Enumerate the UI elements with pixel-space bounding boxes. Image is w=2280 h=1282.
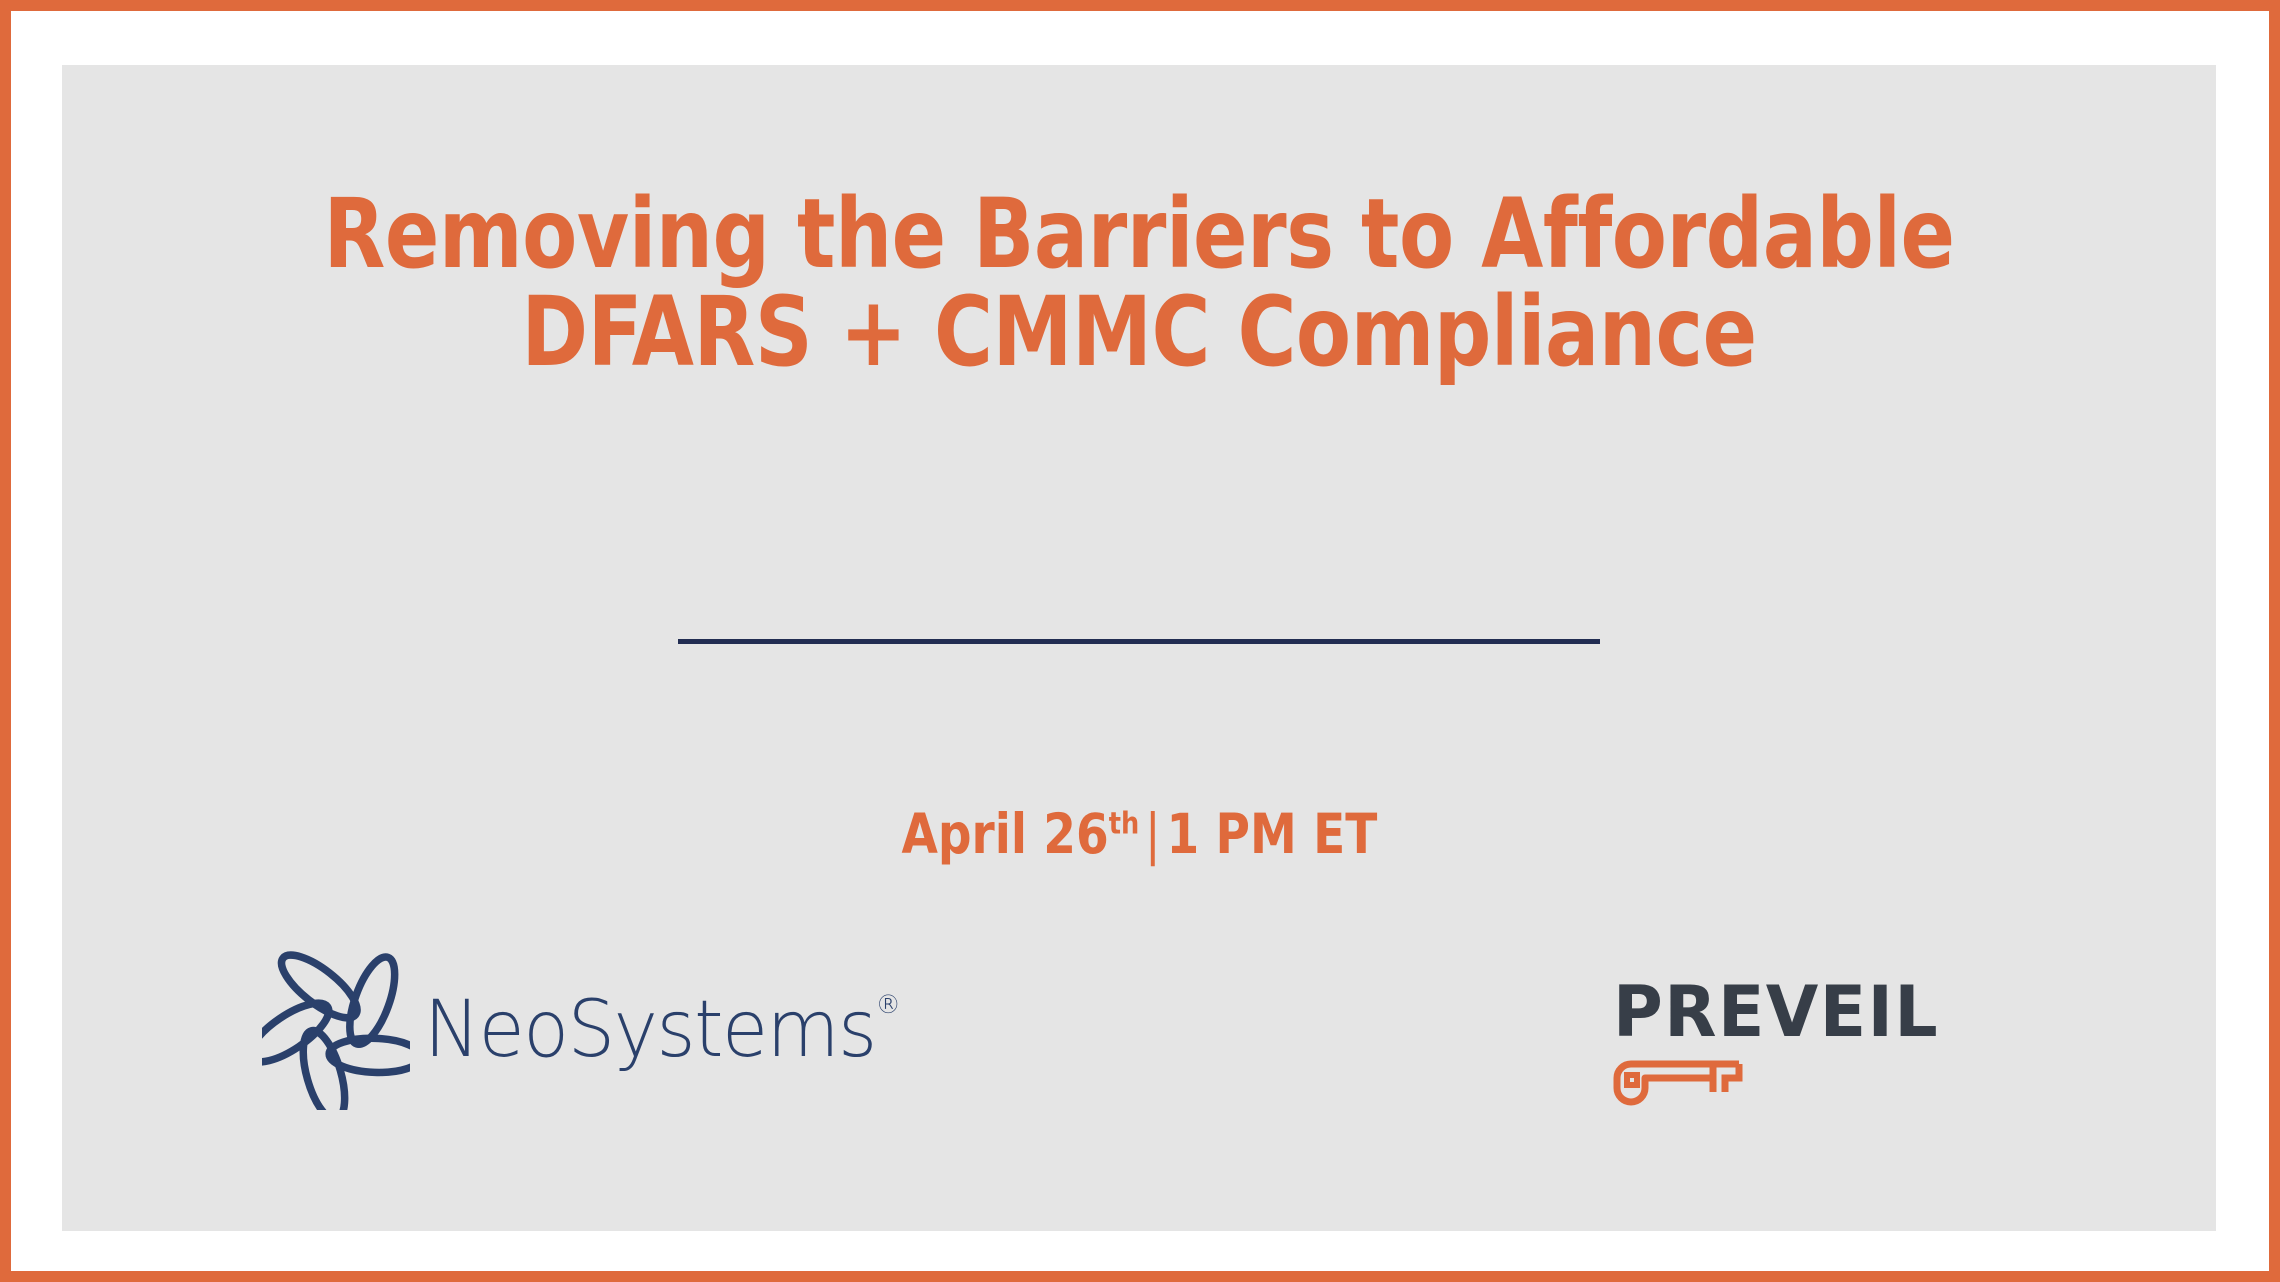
pinwheel-petals-icon [262,950,410,1110]
preveil-wordmark: PREVEIL [1613,976,1933,1048]
slide-frame: Removing the Barriers to Affordable DFAR… [0,0,2280,1282]
event-date-ordinal: th [1108,807,1139,842]
event-datetime: April 26th|1 PM ET [901,805,1377,863]
neosystems-logo: NeoSystems ® [262,950,895,1110]
event-date: April 26 [901,802,1108,866]
event-time: 1 PM ET [1166,802,1377,866]
event-separator: | [1139,802,1166,866]
title-line-1: Removing the Barriers to Affordable [137,185,2140,283]
neosystems-wordmark: NeoSystems ® [424,990,876,1070]
divider-container [62,639,2216,644]
neosystems-name: NeoSystems [424,985,876,1075]
preveil-logo: PREVEIL [1613,976,1943,1106]
page-title: Removing the Barriers to Affordable DFAR… [62,185,2216,381]
divider-rule [678,639,1600,644]
event-datetime-container: April 26th|1 PM ET [62,805,2216,863]
key-icon [1613,1056,1743,1106]
registered-trademark-icon: ® [876,992,901,1018]
content-panel: Removing the Barriers to Affordable DFAR… [62,65,2216,1231]
title-line-2: DFARS + CMMC Compliance [137,283,2140,381]
logo-row: NeoSystems ® PREVEIL [62,930,2216,1160]
